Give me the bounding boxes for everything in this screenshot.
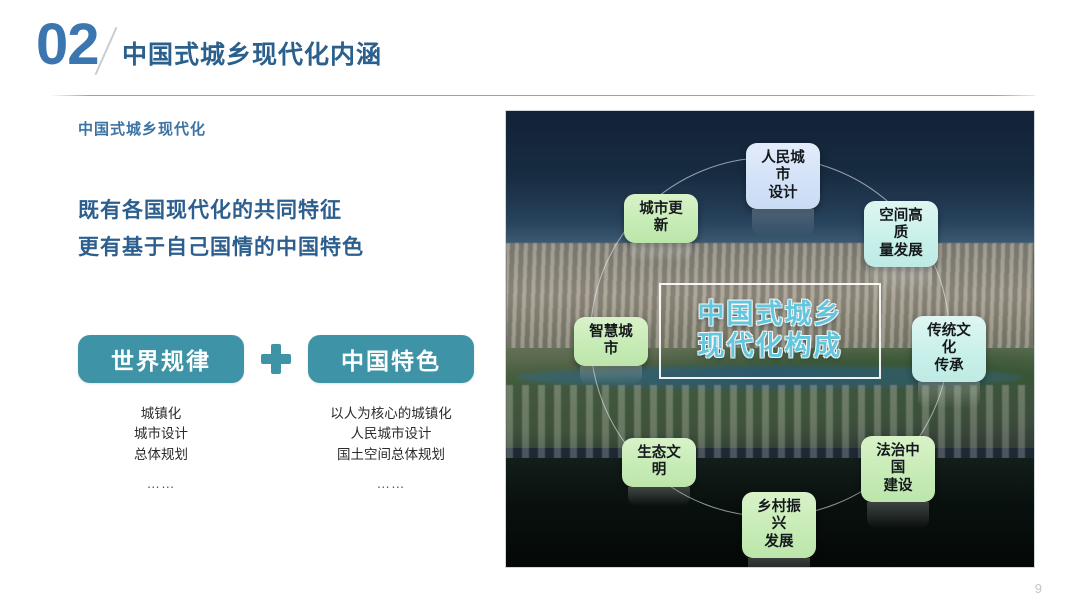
diagram-node-people-city-design[interactable]: 人民城市 设计 [746,143,820,209]
aerial-city-photo-panel: 中国式城乡 现代化构成 人民城市 设计 空间高质 量发展 传统文化 传承 法治中… [505,110,1035,568]
sublist-ellipsis: …… [308,474,474,494]
diagram-node-rural-revitalization[interactable]: 乡村振兴 发展 [742,492,816,558]
slide-header: 02 中国式城乡现代化内涵 [0,0,1080,100]
diagram-node-traditional-culture[interactable]: 传统文化 传承 [912,316,986,382]
plus-icon [252,335,300,383]
sublist-world-rule: 城镇化 城市设计 总体规划 …… [78,404,244,494]
left-content-column: 中国式城乡现代化 既有各国现代化的共同特征 更有基于自己国情的中国特色 [78,118,488,267]
sublist-chinese-character: 以人为核心的城镇化 人民城市设计 国土空间总体规划 …… [308,404,474,494]
header-horizontal-rule [50,95,1035,96]
sublist-ellipsis: …… [78,474,244,494]
page-title: 中国式城乡现代化内涵 [122,35,382,71]
diagram-node-urban-renewal[interactable]: 城市更新 [624,194,698,243]
headline-line-2: 更有基于自己国情的中国特色 [78,230,488,267]
headline-block: 既有各国现代化的共同特征 更有基于自己国情的中国特色 [78,193,488,267]
sublists-row: 城镇化 城市设计 总体规划 …… 以人为核心的城镇化 人民城市设计 国土空间总体… [78,404,478,494]
sublist-item: 以人为核心的城镇化 [308,404,474,424]
headline-line-1: 既有各国现代化的共同特征 [78,193,488,230]
lead-label: 中国式城乡现代化 [78,118,488,139]
diagram-node-rule-of-law-construction[interactable]: 法治中国 建设 [861,436,935,502]
slide-root: 02 中国式城乡现代化内涵 中国式城乡现代化 既有各国现代化的共同特征 更有基于… [0,0,1080,608]
diagram-center-title: 中国式城乡 现代化构成 [659,283,881,379]
page-number: 9 [1035,581,1042,596]
sublist-item: 人民城市设计 [308,424,474,444]
sublist-item: 国土空间总体规划 [308,445,474,465]
pill-chinese-character[interactable]: 中国特色 [308,335,474,383]
formula-pills-row: 世界规律 中国特色 [78,333,478,385]
sublist-item: 城市设计 [78,424,244,444]
diagram-node-smart-city[interactable]: 智慧城市 [574,317,648,366]
section-number: 02 [36,16,99,74]
diagram-node-ecological-civilization[interactable]: 生态文明 [622,438,696,487]
sublist-item: 城镇化 [78,404,244,424]
center-title-line-1: 中国式城乡 [698,299,843,331]
pill-world-rule[interactable]: 世界规律 [78,335,244,383]
center-title-line-2: 现代化构成 [698,331,843,363]
diagram-node-high-quality-space[interactable]: 空间高质 量发展 [864,201,938,267]
sublist-item: 总体规划 [78,445,244,465]
